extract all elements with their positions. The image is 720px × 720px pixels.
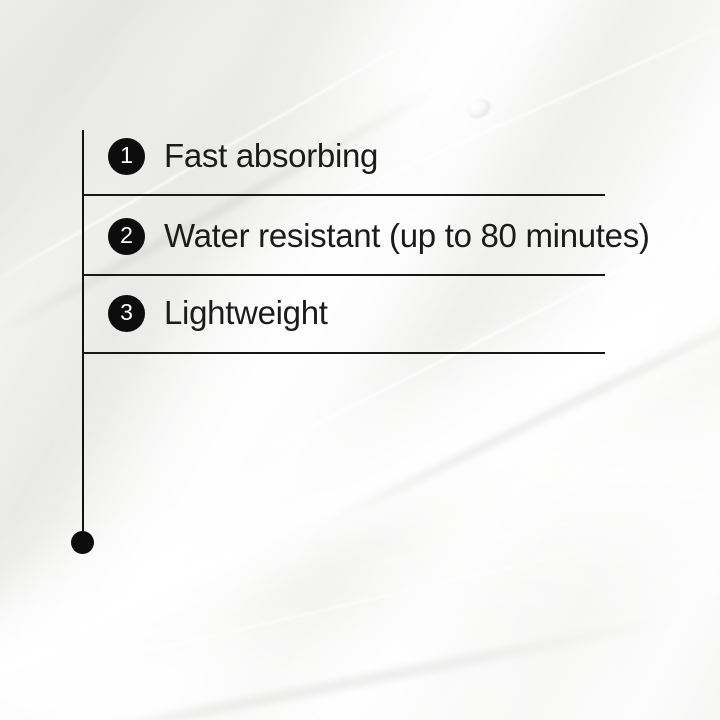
feature-callout: 1 Fast absorbing 2 Water resistant (up t… <box>0 0 720 720</box>
feature-label: Water resistant (up to 80 minutes) <box>164 217 650 255</box>
callout-vertical-axis <box>82 130 84 534</box>
feature-number: 1 <box>120 144 133 167</box>
screenshot-canvas: 1 Fast absorbing 2 Water resistant (up t… <box>0 0 720 720</box>
feature-number: 3 <box>120 301 133 324</box>
axis-end-dot-icon <box>71 531 94 554</box>
feature-number-badge: 3 <box>108 295 145 332</box>
feature-divider-rule <box>82 274 605 276</box>
feature-row: 1 Fast absorbing <box>108 137 378 175</box>
feature-divider-rule <box>82 352 605 354</box>
feature-label: Lightweight <box>164 294 328 332</box>
feature-number: 2 <box>120 224 133 247</box>
feature-number-badge: 2 <box>108 218 145 255</box>
feature-divider-rule <box>82 194 605 196</box>
feature-label: Fast absorbing <box>164 137 378 175</box>
feature-number-badge: 1 <box>108 138 145 175</box>
feature-row: 3 Lightweight <box>108 294 328 332</box>
feature-row: 2 Water resistant (up to 80 minutes) <box>108 217 650 255</box>
